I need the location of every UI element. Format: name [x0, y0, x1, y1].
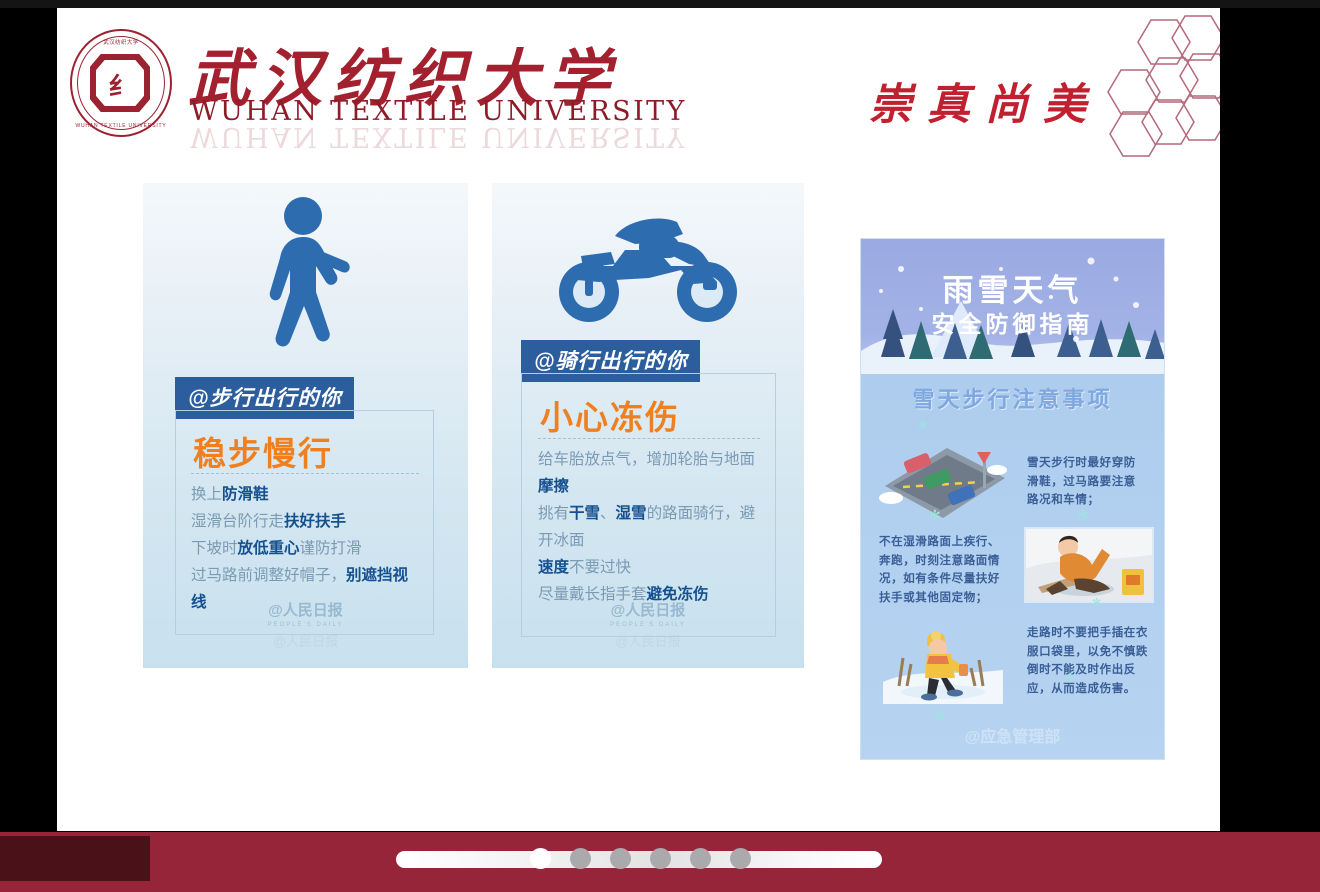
poster-line: 速度不要过快: [538, 554, 764, 581]
pedestrian-icon: [143, 191, 468, 366]
progress-dot[interactable]: [730, 848, 751, 869]
university-name-en-reflection: WUHAN TEXTILE UNIVERSITY: [190, 121, 687, 152]
university-motto: 崇真尚美: [869, 70, 1101, 132]
poster-title: 小心冻伤: [540, 391, 680, 439]
snowflake-icon: ✻: [918, 419, 927, 432]
poster-divider: [538, 438, 760, 439]
letterbox-right: [1220, 8, 1320, 832]
snowflake-icon: ✻: [1077, 507, 1089, 524]
poster-watermark: @人民日报: [143, 599, 468, 620]
progress-dot[interactable]: [690, 848, 711, 869]
poster-line: 换上防滑鞋: [191, 481, 421, 508]
progress-bar[interactable]: [396, 851, 882, 868]
presentation-slide: 武汉纺织大学 纟 WUHAN TEXTILE UNIVERSITY 武汉纺织大学…: [57, 8, 1220, 831]
snowflake-icon: ✻: [934, 707, 946, 724]
progress-dot[interactable]: [650, 848, 671, 869]
poster-gallery: @步行出行的你 稳步慢行 换上防滑鞋 湿滑台阶行走扶好扶手 下坡时放低重心谨防打…: [57, 183, 1220, 803]
seal-glyph: 纟: [70, 29, 172, 137]
poster-watermark-sub: PEOPLE'S DAILY: [492, 622, 804, 628]
snowflake-icon: ✻: [929, 507, 941, 524]
snow-poster-title: 雨雪天气: [861, 265, 1164, 310]
letterbox-left: [0, 8, 57, 832]
poster-card-snow-guide[interactable]: 雨雪天气 安全防御指南 雪天步行注意事项 雪天步行时最好穿防滑鞋，过马路要注意路…: [860, 238, 1165, 760]
seal-arc-bottom: WUHAN TEXTILE UNIVERSITY: [70, 123, 172, 129]
poster-watermark-faint: @人民日报: [143, 631, 468, 650]
university-seal-icon: 武汉纺织大学 纟 WUHAN TEXTILE UNIVERSITY: [70, 29, 172, 137]
poster-line: 挑有干雪、湿雪的路面骑行，避开冰面: [538, 500, 764, 554]
poster-body: 给车胎放点气，增加轮胎与地面摩擦 挑有干雪、湿雪的路面骑行，避开冰面 速度不要过…: [538, 446, 764, 608]
hexagon-pattern-icon: [1099, 14, 1220, 157]
poster-body: 换上防滑鞋 湿滑台阶行走扶好扶手 下坡时放低重心谨防打滑 过马路前调整好帽子，别…: [191, 481, 421, 616]
snow-poster-watermark: @应急管理部: [861, 723, 1164, 747]
snow-poster-section-heading: 雪天步行注意事项: [861, 382, 1164, 414]
slide-header: 武汉纺织大学 纟 WUHAN TEXTILE UNIVERSITY 武汉纺织大学…: [57, 8, 1220, 163]
screen-share-label: 的屏幕共享: [0, 836, 150, 881]
poster-line: 湿滑台阶行走扶好扶手: [191, 508, 421, 535]
snow-poster-paragraph: 走路时不要把手插在衣服口袋里，以免不慎跌倒时不能及时作出反应，从而造成伤害。: [1027, 624, 1152, 698]
poster-watermark-sub: PEOPLE'S DAILY: [143, 622, 468, 628]
slipping-person-illustration-icon: [1024, 527, 1154, 603]
poster-line: 给车胎放点气，增加轮胎与地面摩擦: [538, 446, 764, 500]
poster-divider: [191, 473, 419, 474]
snowflake-icon: ✻: [1066, 671, 1075, 684]
top-strip: [0, 0, 1320, 8]
motorcycle-icon: [492, 191, 804, 341]
snowflake-icon: ✻: [1092, 596, 1101, 609]
snow-poster-paragraph: 雪天步行时最好穿防滑鞋，过马路要注意路况和车情；: [1027, 454, 1147, 510]
poster-title: 稳步慢行: [193, 427, 333, 475]
road-illustration-icon: [877, 434, 1012, 524]
snow-poster-subtitle: 安全防御指南: [861, 305, 1164, 339]
snow-poster-paragraph: 不在湿滑路面上疾行、奔跑，时刻注意路面情况，如有条件尽量扶好扶手或其他固定物；: [879, 533, 1007, 607]
poster-card-cyclist[interactable]: @骑行出行的你 小心冻伤 给车胎放点气，增加轮胎与地面摩擦 挑有干雪、湿雪的路面…: [492, 183, 804, 668]
progress-dot[interactable]: [530, 848, 551, 869]
progress-dot[interactable]: [570, 848, 591, 869]
poster-line: 下坡时放低重心谨防打滑: [191, 535, 421, 562]
progress-dot[interactable]: [610, 848, 631, 869]
poster-watermark: @人民日报: [492, 599, 804, 620]
walking-child-illustration-icon: [883, 624, 1003, 704]
poster-watermark-faint: @人民日报: [492, 631, 804, 650]
poster-card-pedestrian[interactable]: @步行出行的你 稳步慢行 换上防滑鞋 湿滑台阶行走扶好扶手 下坡时放低重心谨防打…: [143, 183, 468, 668]
